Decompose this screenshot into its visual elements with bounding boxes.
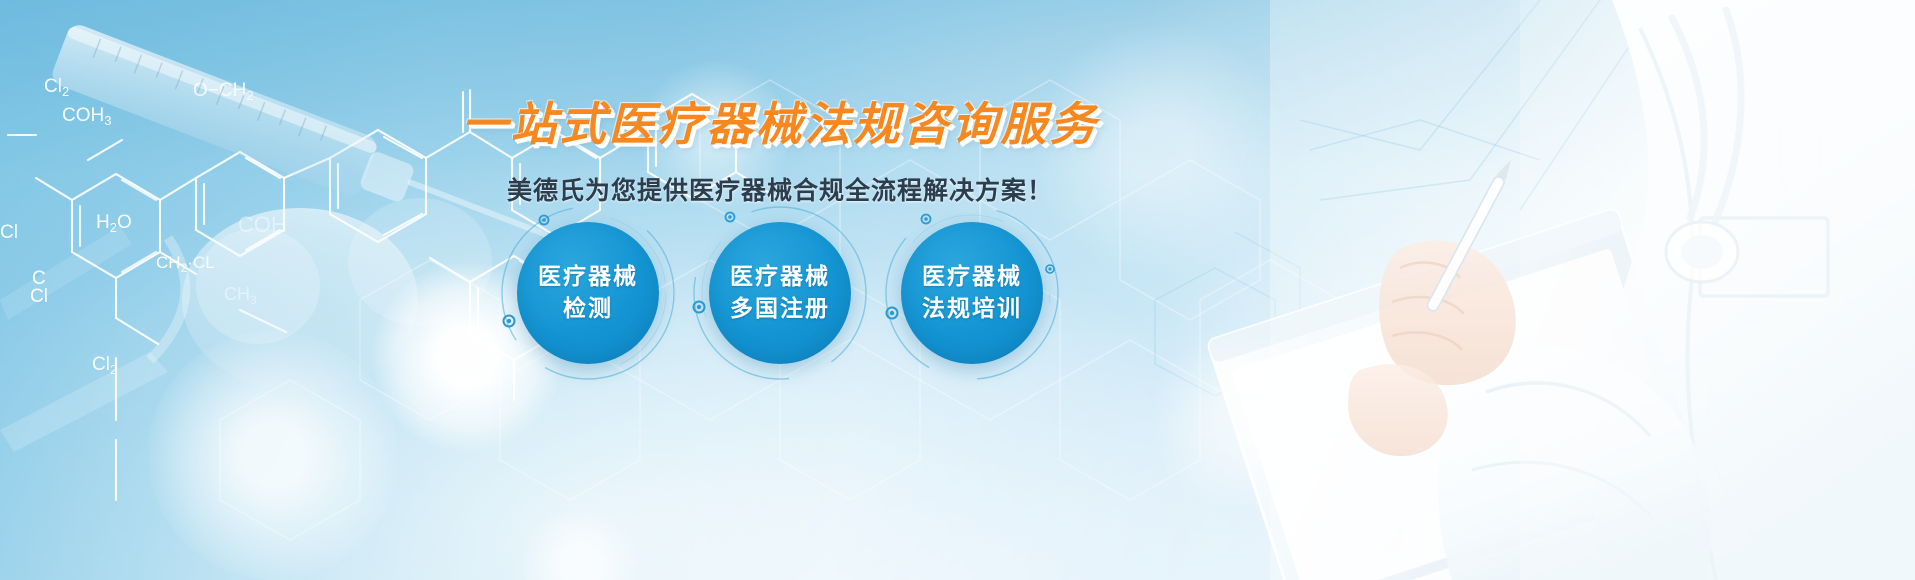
service-label-line1: 医疗器械 — [538, 261, 638, 293]
service-label-line2: 法规培训 — [922, 293, 1022, 325]
service-circle-training[interactable]: 医疗器械 法规培训 — [901, 222, 1043, 364]
headline-block: 一站式医疗器械法规咨询服务 美德氏为您提供医疗器械合规全流程解决方案！ — [0, 88, 1560, 207]
service-label-line2: 多国注册 — [730, 293, 830, 325]
service-circle-body[interactable]: 医疗器械 多国注册 — [709, 222, 851, 364]
service-circle-detection[interactable]: 医疗器械 检测 — [517, 222, 659, 364]
service-circle-body[interactable]: 医疗器械 法规培训 — [901, 222, 1043, 364]
page-title: 一站式医疗器械法规咨询服务 — [0, 88, 1560, 154]
service-circle-group: 医疗器械 检测 医疗器械 多国注册 — [0, 222, 1560, 364]
service-label-line2: 检测 — [563, 293, 613, 325]
service-label-line1: 医疗器械 — [922, 261, 1022, 293]
service-label-line1: 医疗器械 — [730, 261, 830, 293]
page-subtitle: 美德氏为您提供医疗器械合规全流程解决方案！ — [0, 171, 1560, 207]
promo-banner: Cl2 COH3 O−CH2 H2O Cl C Cl CH2·CL COH Cl… — [0, 0, 1915, 580]
service-circle-registration[interactable]: 医疗器械 多国注册 — [709, 222, 851, 364]
service-circle-body[interactable]: 医疗器械 检测 — [517, 222, 659, 364]
banner-content: 一站式医疗器械法规咨询服务 美德氏为您提供医疗器械合规全流程解决方案！ 医疗器械… — [0, 0, 1915, 580]
